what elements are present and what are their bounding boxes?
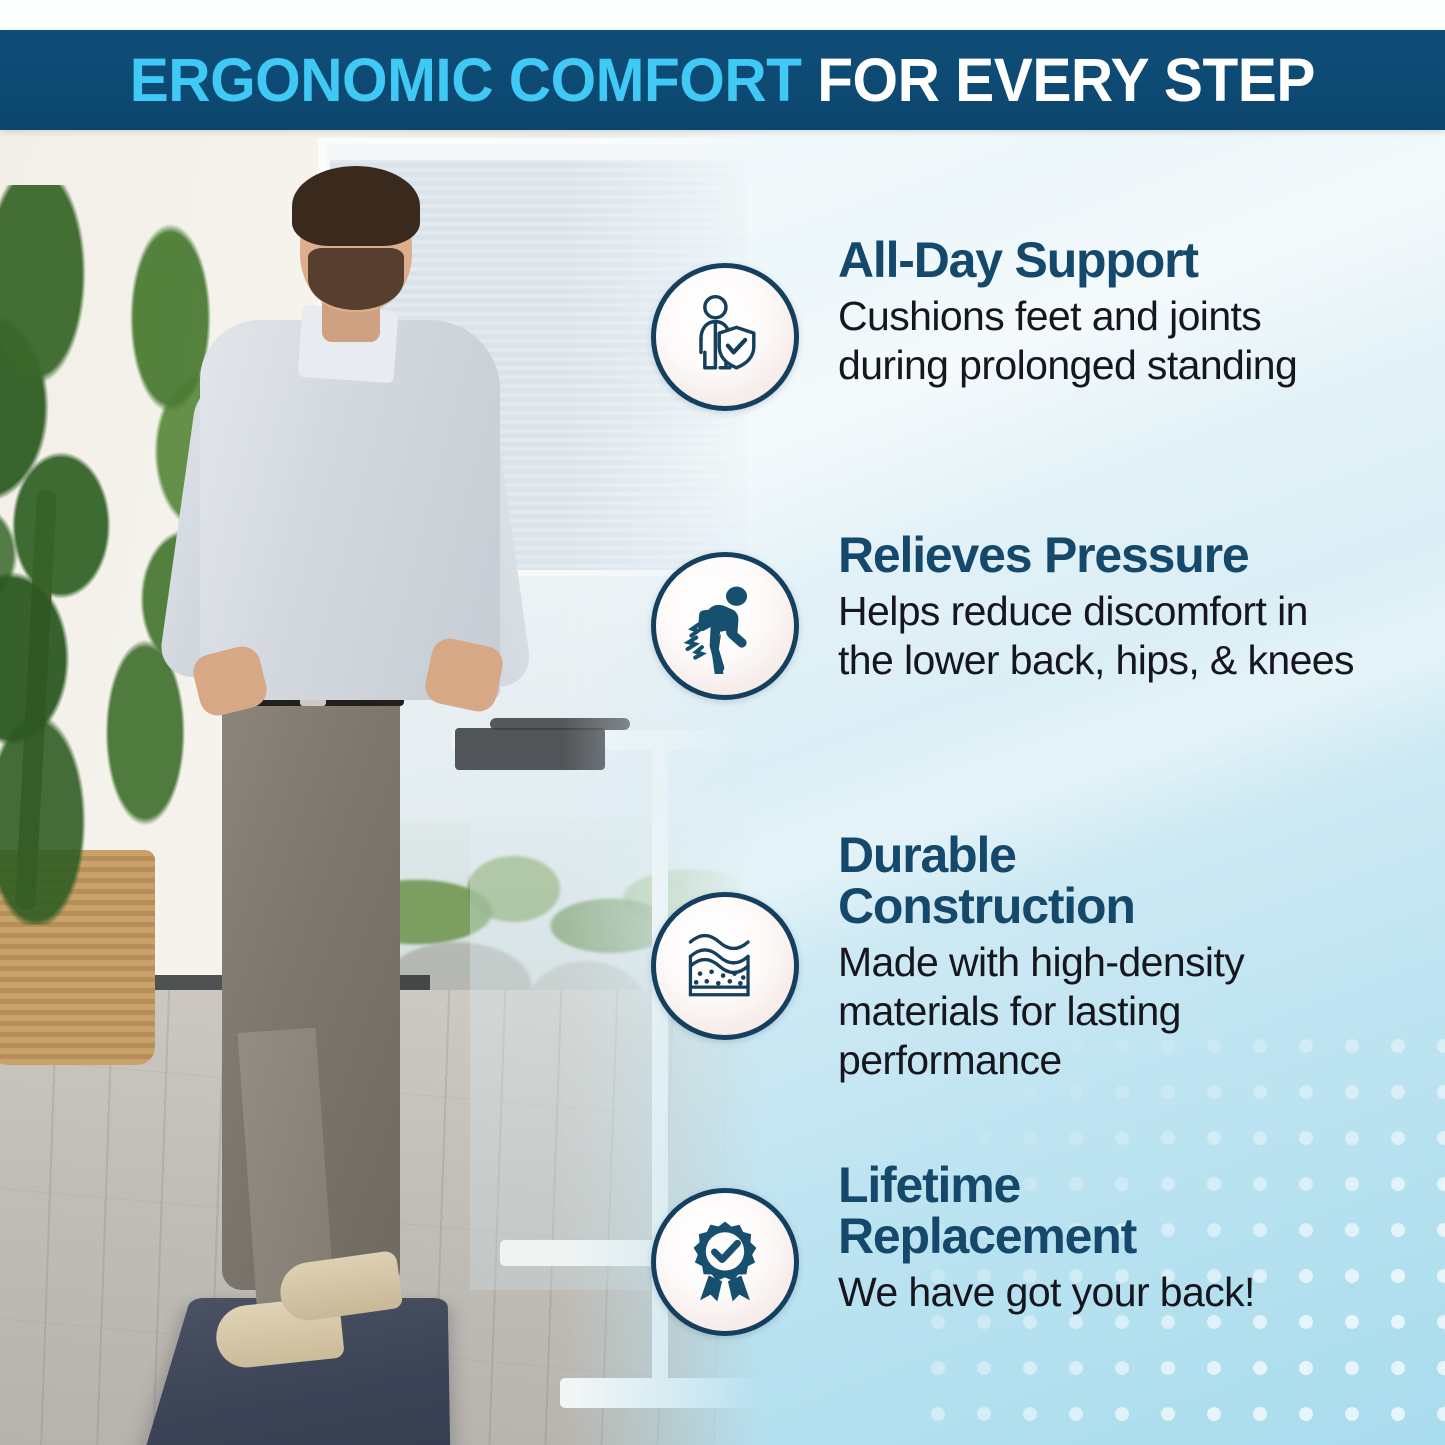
feature-description: Made with high-density materials for las… (838, 938, 1438, 1084)
layered-foam-icon (651, 892, 799, 1040)
back-pain-person-icon (651, 552, 799, 700)
feature-description: Cushions feet and joints during prolonge… (838, 292, 1438, 390)
feature-title: Durable Construction (838, 830, 1438, 932)
feature-title: All-Day Support (838, 235, 1438, 286)
feature-description: Helps reduce discomfort in the lower bac… (838, 587, 1438, 685)
top-white-strip (0, 0, 1445, 30)
award-ribbon-check-icon (651, 1188, 799, 1336)
feature-text-block: All-Day Support Cushions feet and joints… (838, 235, 1438, 390)
feature-title: Relieves Pressure (838, 530, 1438, 581)
feature-text-block: Durable Construction Made with high-dens… (838, 830, 1438, 1084)
desk-clamp (455, 728, 605, 770)
person-hair (292, 166, 420, 246)
feature-text-block: Relieves Pressure Helps reduce discomfor… (838, 530, 1438, 685)
person-shield-icon (651, 263, 799, 411)
header-banner: ERGONOMIC COMFORT FOR EVERY STEP (0, 30, 1445, 130)
person-beard (308, 248, 404, 310)
banner-title-highlight: ERGONOMIC COMFORT (130, 46, 802, 114)
feature-list: All-Day Support Cushions feet and joints… (645, 130, 1445, 1445)
banner-title-rest: FOR EVERY STEP (802, 46, 1315, 114)
banner-title: ERGONOMIC COMFORT FOR EVERY STEP (130, 45, 1315, 115)
feature-description: We have got your back! (838, 1268, 1438, 1317)
feature-title: Lifetime Replacement (838, 1160, 1438, 1262)
infographic-canvas: ERGONOMIC COMFORT FOR EVERY STEP All-Day… (0, 0, 1445, 1445)
feature-text-block: Lifetime Replacement We have got your ba… (838, 1160, 1438, 1317)
